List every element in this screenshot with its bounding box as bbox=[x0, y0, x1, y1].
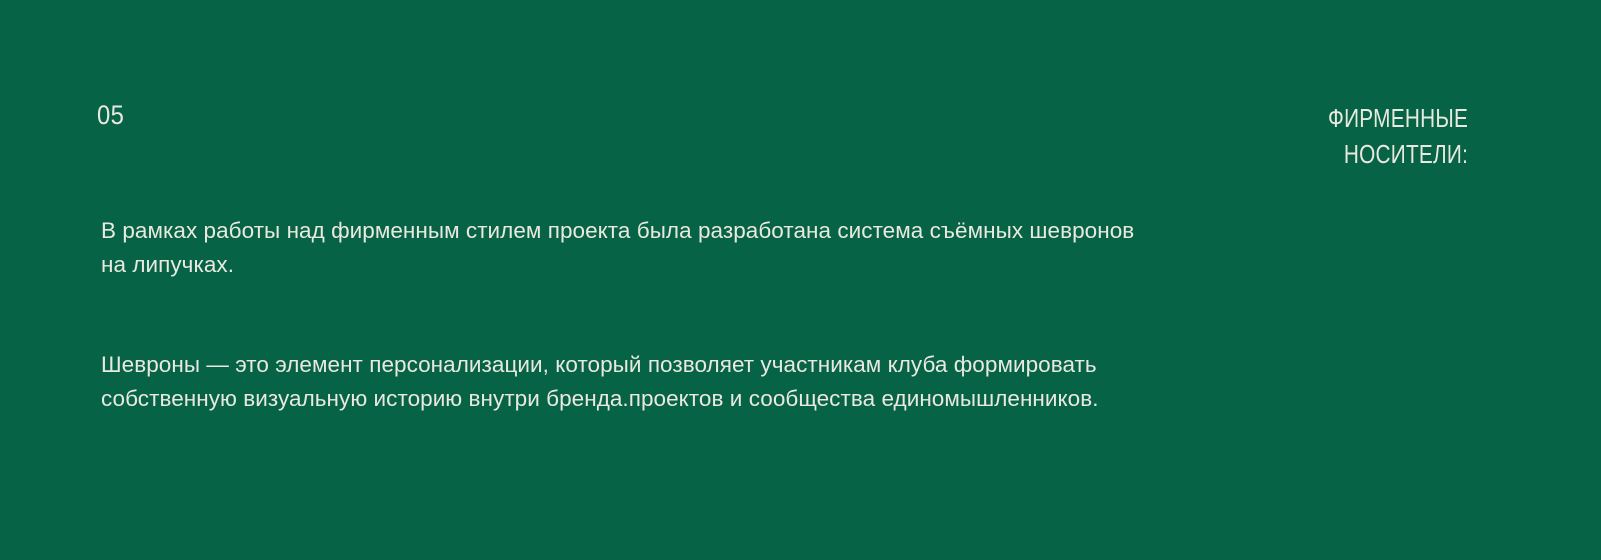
slide-body-text: В рамках работы над фирменным стилем про… bbox=[101, 214, 1441, 416]
slide-header: 05 ФИРМЕННЫЕ НОСИТЕЛИ: bbox=[97, 100, 1468, 172]
paragraph-2-line-1: Шевроны — это элемент персонализации, ко… bbox=[101, 348, 1431, 382]
slide-section-title: ФИРМЕННЫЕ НОСИТЕЛИ: bbox=[1328, 100, 1468, 172]
slide-empty-area bbox=[0, 400, 1601, 560]
paragraph-1-line-1: В рамках работы над фирменным стилем про… bbox=[101, 214, 1431, 248]
presentation-slide: 05 ФИРМЕННЫЕ НОСИТЕЛИ: В рамках работы н… bbox=[0, 0, 1601, 560]
section-title-line-1: ФИРМЕННЫЕ bbox=[1328, 100, 1468, 136]
section-title-line-2: НОСИТЕЛИ: bbox=[1328, 136, 1468, 172]
body-paragraph-1: В рамках работы над фирменным стилем про… bbox=[101, 214, 1431, 282]
slide-number: 05 bbox=[97, 100, 124, 130]
paragraph-1-line-2: на липучках. bbox=[101, 248, 1431, 282]
